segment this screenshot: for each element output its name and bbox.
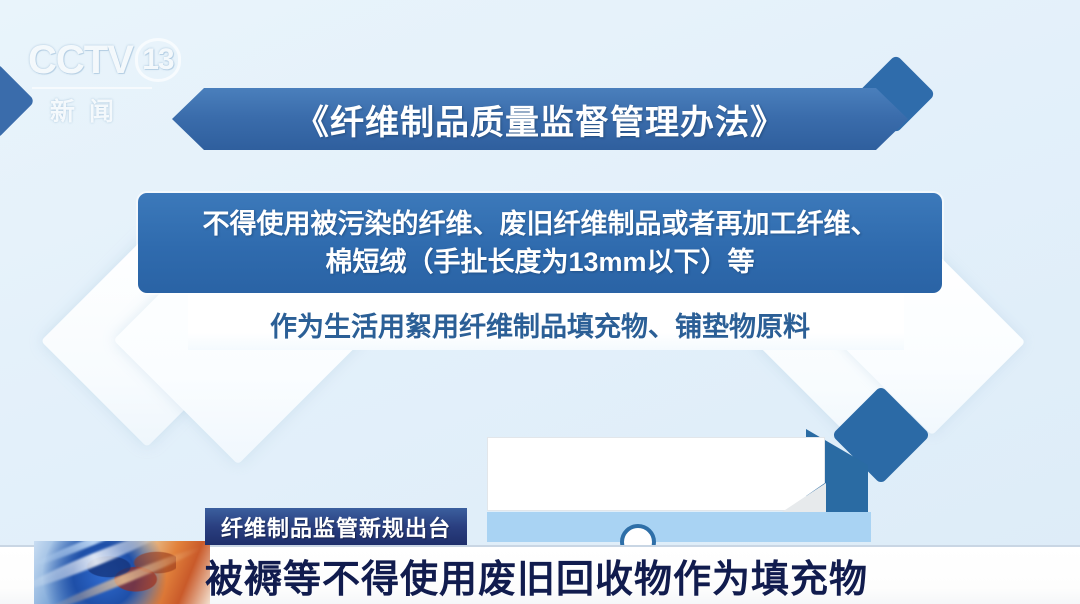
document-icon (487, 437, 825, 511)
graphic-closing-text: 作为生活用絮用纤维制品填充物、铺垫物原料 (270, 305, 810, 344)
broadcast-screenshot: CCTV 13 新闻 《纤维制品质量监督管理办法》 不得使用被污染的纤维、废旧纤… (0, 0, 1080, 604)
logo-cctv-wordmark: CCTV 13 (28, 38, 188, 82)
graphic-title-text: 《纤维制品质量监督管理办法》 (295, 95, 785, 144)
graphic-closing-line: 作为生活用絮用纤维制品填充物、铺垫物原料 (0, 300, 1080, 348)
lower-third-kicker: 纤维制品监管新规出台 (205, 508, 467, 545)
logo-cctv-text: CCTV (28, 40, 133, 80)
headline-text: 被褥等不得使用废旧回收物作为填充物 (205, 548, 868, 603)
cctv13-logo: CCTV 13 新闻 (28, 38, 188, 130)
kicker-text: 纤维制品监管新规出台 (221, 511, 451, 543)
document-light-bar (487, 512, 871, 542)
logo-channel-number: 13 (135, 38, 181, 82)
lower-third-headline: 被褥等不得使用废旧回收物作为填充物 (205, 546, 868, 604)
graphic-title-banner: 《纤维制品质量监督管理办法》 (172, 88, 908, 150)
graphic-body-box: 不得使用被污染的纤维、废旧纤维制品或者再加工纤维、 棉短绒（手扯长度为13mm以… (138, 193, 942, 293)
graphic-body-line-2: 棉短绒（手扯长度为13mm以下）等 (325, 243, 754, 281)
globe-icon (34, 541, 210, 604)
logo-divider (32, 87, 152, 89)
logo-channel-name: 新闻 (50, 92, 188, 128)
graphic-body-line-1: 不得使用被污染的纤维、废旧纤维制品或者再加工纤维、 (203, 205, 878, 243)
